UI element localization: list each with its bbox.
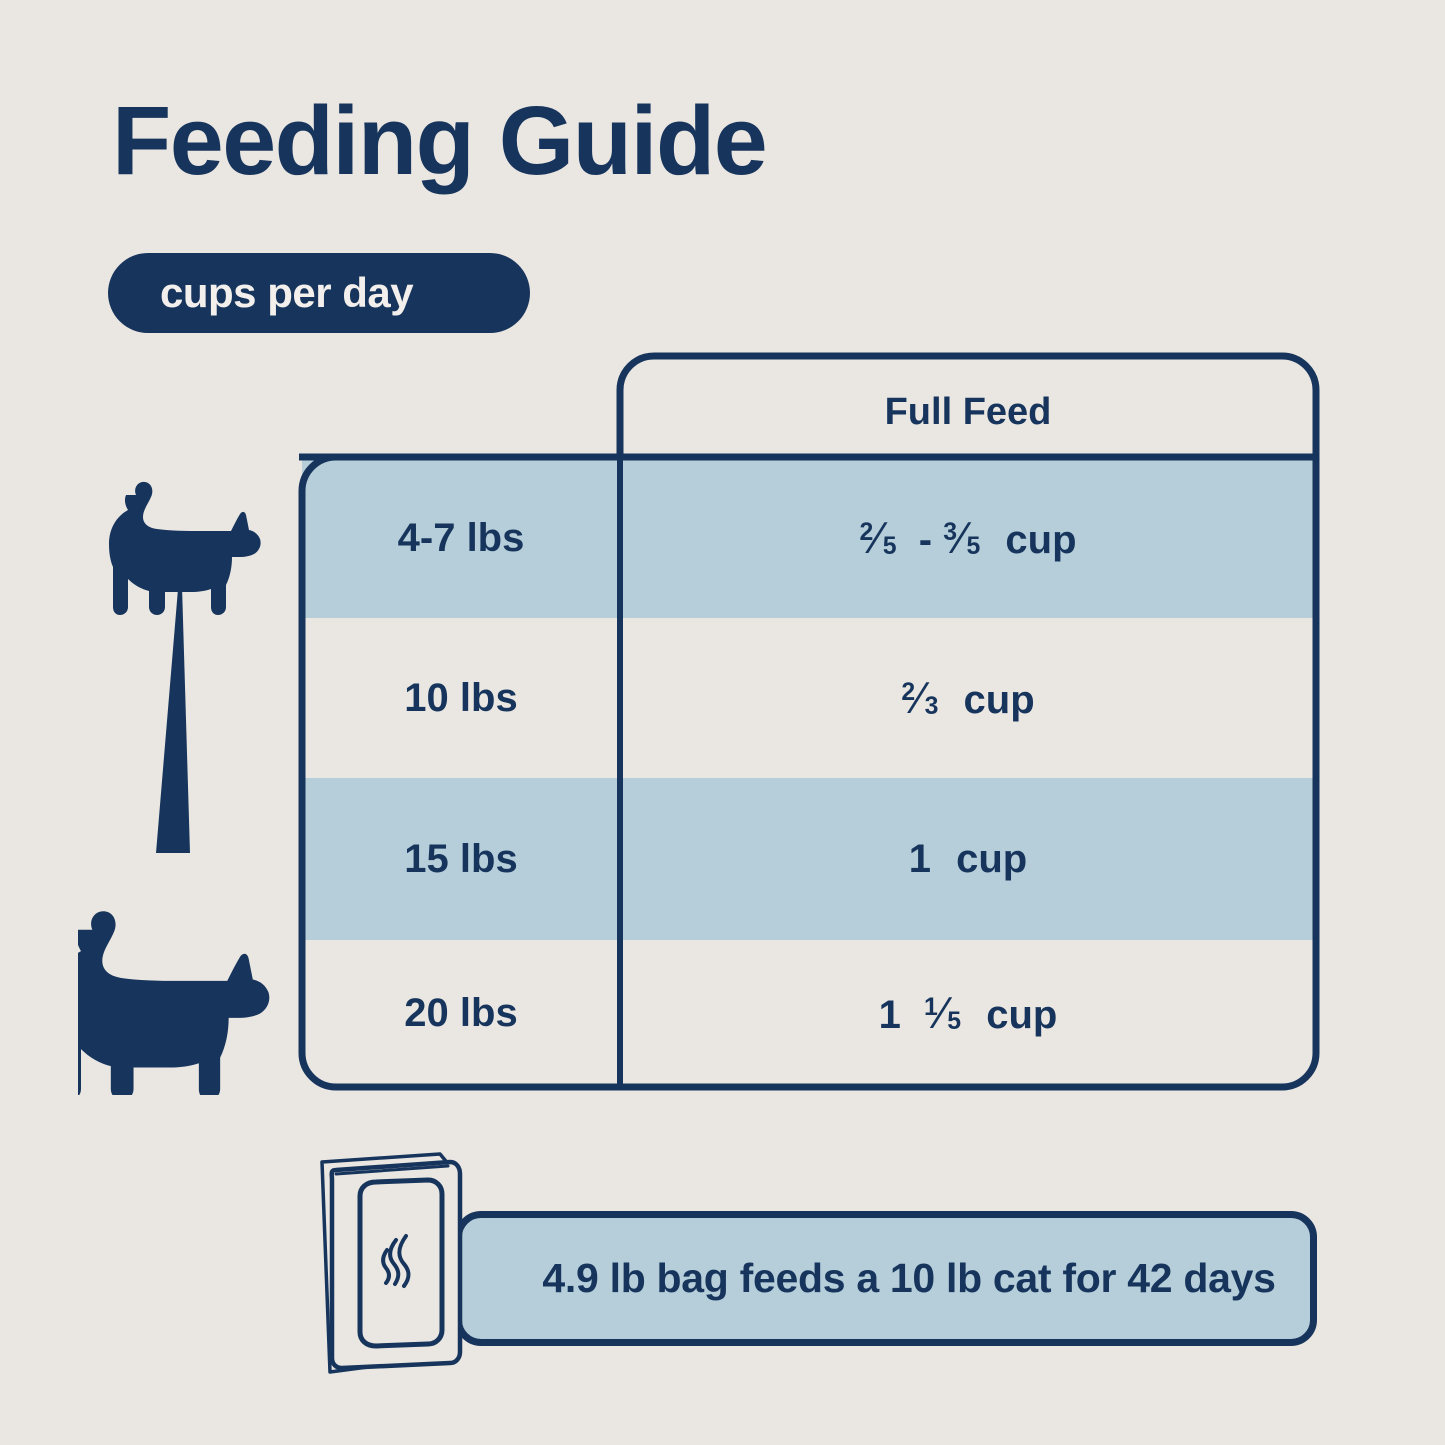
- whole-number: 1: [879, 993, 901, 1037]
- full-feed-value-row2: 2⁄3 cup: [620, 618, 1316, 778]
- table-row: 10 lbs: [302, 618, 620, 778]
- fraction-slash: ⁄: [873, 513, 882, 563]
- unit-label: cup: [986, 993, 1057, 1037]
- fraction-denominator: 3: [925, 693, 939, 720]
- full-feed-value-row3: 1 cup: [620, 778, 1316, 940]
- unit-label: cup: [964, 678, 1035, 722]
- fraction-numerator: 3: [943, 519, 957, 546]
- fraction-numerator: 1: [924, 994, 938, 1021]
- table-row: 15 lbs: [302, 778, 620, 940]
- unit-label: cup: [956, 837, 1027, 881]
- fraction-denominator: 5: [947, 1008, 961, 1035]
- fraction-numerator: 2: [901, 679, 915, 706]
- full-feed-value-row1: 2⁄5 - 3⁄5 cup: [620, 458, 1316, 618]
- range-dash: -: [908, 518, 944, 562]
- table-row: 20 lbs: [302, 940, 620, 1087]
- fraction-denominator: 5: [966, 533, 980, 560]
- column-header-full-feed: Full Feed: [620, 382, 1316, 442]
- fraction-denominator: 5: [883, 533, 897, 560]
- whole-number: 1: [909, 837, 931, 881]
- full-feed-value-row4: 1 1⁄5 cup: [620, 940, 1316, 1087]
- fraction-slash: ⁄: [915, 673, 924, 723]
- bag-duration-text: 4.9 lb bag feeds a 10 lb cat for 42 days: [496, 1255, 1275, 1302]
- fraction-numerator: 2: [859, 519, 873, 546]
- unit-label: cup: [1005, 518, 1076, 562]
- fraction-slash: ⁄: [938, 988, 947, 1038]
- table-row: 4-7 lbs: [302, 458, 620, 618]
- bag-duration-banner: 4.9 lb bag feeds a 10 lb cat for 42 days: [455, 1211, 1317, 1346]
- food-bag-icon: [300, 1144, 480, 1394]
